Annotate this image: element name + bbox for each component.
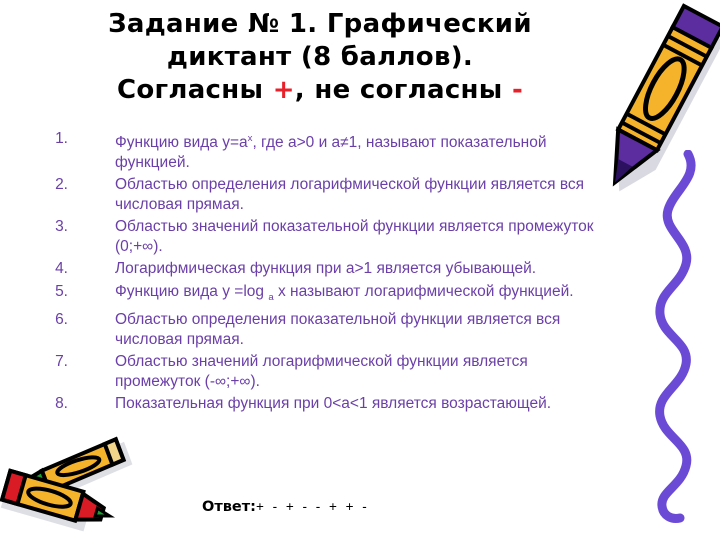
list-item-text: Областью значений показательной функции …: [115, 217, 620, 256]
list-item: 1. Функцию вида y=ax, где a>0 и a≠1, наз…: [0, 129, 620, 172]
purple-wavy-line-icon: [630, 150, 720, 525]
statement-text-pre: Функцию вида y=a: [115, 134, 248, 151]
list-item-text: Логарифмическая функция при a>1 является…: [115, 259, 620, 279]
list-item-text: Областью определения показательной функц…: [115, 310, 620, 349]
list-item-text: Функцию вида y=ax, где a>0 и a≠1, называ…: [115, 129, 620, 172]
crossed-crayons-icon: [0, 424, 134, 540]
minus-sign: -: [512, 75, 523, 105]
list-item-number: 2.: [0, 175, 68, 195]
list-item: 3. Областью значений показательной функц…: [0, 217, 620, 256]
plus-sign: +: [273, 75, 295, 105]
list-item: 8. Показательная функция при 0<a<1 являе…: [0, 394, 620, 414]
list-item-text: Областью значений логарифмической функци…: [115, 352, 620, 391]
list-item-text: Функцию вида y =log a x называют логариф…: [115, 282, 620, 308]
page-title: Задание № 1. Графический диктант (8 балл…: [40, 8, 600, 107]
list-item-number: 6.: [0, 310, 68, 330]
title-line-1: Задание № 1. Графический: [40, 8, 600, 41]
statement-text-pre: Функцию вида y =log: [115, 283, 268, 300]
list-item-text: Показательная функция при 0<a<1 является…: [115, 394, 620, 414]
answer-sequence: + - + - - + + -: [256, 499, 369, 514]
list-item-number: 4.: [0, 259, 68, 279]
statement-text-post: x называют логарифмической функцией.: [274, 283, 574, 300]
list-item-number: 8.: [0, 394, 68, 414]
list-item-text: Областью определения логарифмической фун…: [115, 175, 620, 214]
list-item-number: 3.: [0, 217, 68, 237]
title-line-2: диктант (8 баллов).: [40, 41, 600, 74]
title-line-3: Согласны +, не согласны -: [40, 74, 600, 107]
slide-canvas: Задание № 1. Графический диктант (8 балл…: [0, 0, 720, 540]
list-item-number: 7.: [0, 352, 68, 372]
statement-list: 1. Функцию вида y=ax, где a>0 и a≠1, наз…: [0, 129, 620, 417]
list-item-number: 1.: [0, 129, 68, 149]
answer-line: Ответ:+ - + - - + + -: [202, 498, 369, 515]
list-item: 4. Логарифмическая функция при a>1 являе…: [0, 259, 620, 279]
list-item: 6. Областью определения показательной фу…: [0, 310, 620, 349]
title-agree-text: Согласны: [117, 75, 273, 105]
list-item: 5. Функцию вида y =log a x называют лога…: [0, 282, 620, 308]
list-item: 7. Областью значений логарифмической фун…: [0, 352, 620, 391]
list-item-number: 5.: [0, 282, 68, 302]
list-item: 2. Областью определения логарифмической …: [0, 175, 620, 214]
answer-label: Ответ:: [202, 499, 256, 515]
title-disagree-text: , не согласны: [295, 75, 512, 105]
